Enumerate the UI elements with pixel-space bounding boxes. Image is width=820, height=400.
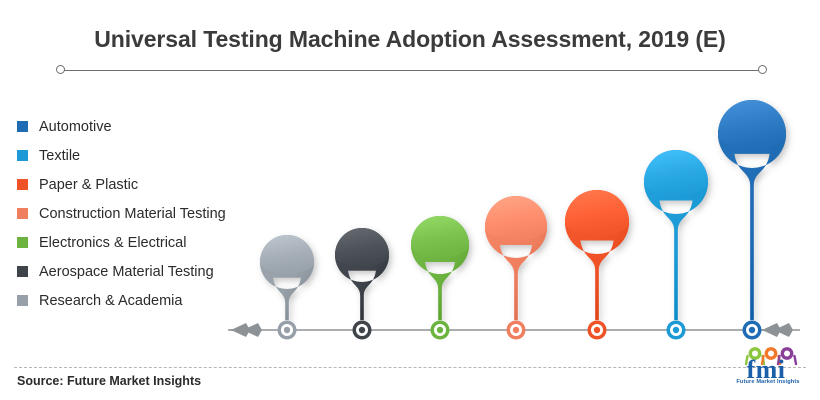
chart-infographic: Universal Testing Machine Adoption Asses… — [0, 0, 820, 400]
footer-divider — [14, 367, 806, 368]
legend-item-label: Construction Material Testing — [39, 206, 226, 222]
balloon-highlight — [485, 196, 547, 240]
balloon-body-fill — [565, 190, 629, 320]
legend-item-label: Aerospace Material Testing — [39, 264, 214, 280]
balloon-body — [565, 190, 629, 320]
balloon-textile[interactable] — [644, 150, 708, 340]
balloon-node-inner — [749, 327, 755, 333]
balloon-body-fill — [718, 100, 786, 320]
legend-swatch-icon — [17, 208, 28, 219]
balloon-node-inner — [437, 327, 443, 333]
title-divider — [60, 70, 762, 71]
legend-item[interactable]: Construction Material Testing — [17, 199, 226, 228]
balloon-node-ring — [670, 324, 682, 336]
balloon-body-fill — [411, 216, 469, 320]
balloon-node-inner — [594, 327, 600, 333]
legend-item-label: Automotive — [39, 119, 112, 135]
balloon-node-inner — [284, 327, 290, 333]
legend-item[interactable]: Textile — [17, 141, 226, 170]
page-title: Universal Testing Machine Adoption Asses… — [0, 26, 820, 53]
balloon-node-ring — [746, 324, 758, 336]
balloon-body-fill — [260, 235, 314, 320]
balloon-highlight — [565, 190, 629, 235]
title-divider-left-dot — [56, 65, 65, 74]
balloon-body — [335, 228, 389, 320]
balloon-node-ring — [591, 324, 603, 336]
legend-item-label: Research & Academia — [39, 293, 182, 309]
legend-swatch-icon — [17, 266, 28, 277]
balloon-paper-plastic[interactable] — [565, 190, 629, 340]
balloon-construction-material-testing[interactable] — [485, 196, 547, 340]
legend-item[interactable]: Research & Academia — [17, 286, 226, 315]
balloon-body-fill — [485, 196, 547, 320]
balloon-highlight — [644, 150, 708, 195]
balloon-node-ring — [281, 324, 293, 336]
balloon-node-inner — [359, 327, 365, 333]
axis-arrow-right — [762, 323, 793, 337]
source-label: Source: Future Market Insights — [17, 374, 201, 388]
legend-item-label: Textile — [39, 148, 80, 164]
balloon-body — [644, 150, 708, 320]
logo-tagline: Future Market Insights — [722, 379, 814, 385]
legend-item[interactable]: Aerospace Material Testing — [17, 257, 226, 286]
balloon-highlight — [718, 100, 786, 148]
legend-swatch-icon — [17, 295, 28, 306]
balloon-body — [411, 216, 469, 320]
balloon-research-academia[interactable] — [260, 235, 314, 340]
balloon-body-fill — [644, 150, 708, 320]
balloon-highlight — [335, 228, 389, 266]
balloon-body-fill — [335, 228, 389, 320]
balloon-aerospace-material-testing[interactable] — [335, 228, 389, 340]
legend-swatch-icon — [17, 150, 28, 161]
balloon-node-inner — [673, 327, 679, 333]
legend-swatch-icon — [17, 179, 28, 190]
balloon-electronics-electrical[interactable] — [411, 216, 469, 340]
title-divider-right-dot — [758, 65, 767, 74]
axis-arrow-left — [231, 323, 262, 337]
balloon-body — [718, 100, 786, 320]
legend-item[interactable]: Paper & Plastic — [17, 170, 226, 199]
balloon-highlight — [411, 216, 469, 257]
balloon-node-outer — [588, 321, 607, 340]
balloon-node-outer — [353, 321, 372, 340]
legend-item[interactable]: Automotive — [17, 112, 226, 141]
balloon-node-ring — [356, 324, 368, 336]
legend-item[interactable]: Electronics & Electrical — [17, 228, 226, 257]
balloon-automotive[interactable] — [718, 100, 786, 340]
balloon-body — [485, 196, 547, 320]
balloon-body — [260, 235, 314, 320]
balloon-node-ring — [510, 324, 522, 336]
balloon-node-inner — [513, 327, 519, 333]
legend-swatch-icon — [17, 237, 28, 248]
balloon-node-outer — [431, 321, 450, 340]
balloon-highlight — [260, 235, 314, 273]
legend: AutomotiveTextilePaper & PlasticConstruc… — [17, 112, 226, 315]
legend-item-label: Paper & Plastic — [39, 177, 138, 193]
legend-swatch-icon — [17, 121, 28, 132]
balloon-node-outer — [743, 321, 762, 340]
balloon-node-outer — [278, 321, 297, 340]
balloon-node-ring — [434, 324, 446, 336]
balloon-node-outer — [667, 321, 686, 340]
legend-item-label: Electronics & Electrical — [39, 235, 186, 251]
balloon-node-outer — [507, 321, 526, 340]
